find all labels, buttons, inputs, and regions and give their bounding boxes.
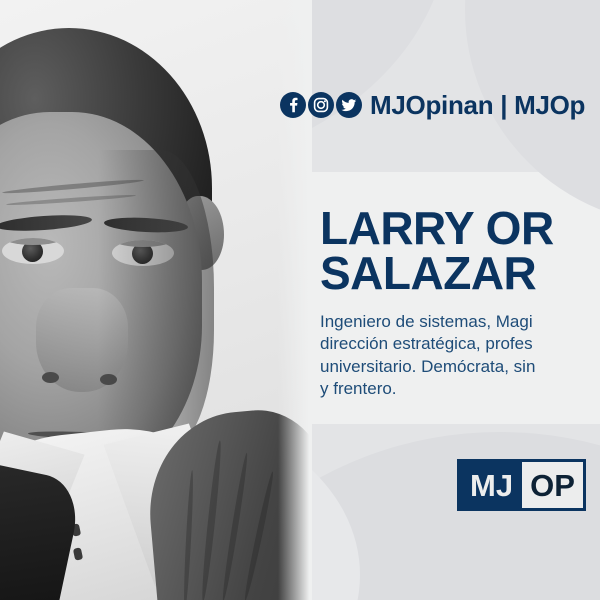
logo-initials: MJ — [460, 462, 522, 508]
portrait-nostril-left — [42, 372, 59, 383]
instagram-icon[interactable] — [308, 92, 334, 118]
social-handle-text: MJOpinan | MJOp — [370, 92, 585, 118]
portrait-eyelid-left — [2, 238, 64, 245]
facebook-icon[interactable] — [280, 92, 306, 118]
person-name-line-2: SALAZAR — [320, 251, 554, 296]
person-name: LARRY OR SALAZAR — [320, 206, 554, 296]
portrait-face-shadow — [98, 150, 214, 450]
bio-line: Ingeniero de sistemas, Magi — [320, 311, 535, 333]
social-handle-row: MJOpinan | MJOp — [280, 92, 585, 118]
twitter-icon[interactable] — [336, 92, 362, 118]
portrait-edge-fade — [278, 0, 312, 600]
promo-card: MJOpinan | MJOp LARRY OR SALAZAR Ingenie… — [0, 0, 600, 600]
portrait-eye-left — [2, 238, 64, 264]
bio-line: dirección estratégica, profes — [320, 333, 535, 355]
bio-line: y frentero. — [320, 378, 535, 400]
mj-opinan-logo[interactable]: MJ OP — [457, 459, 586, 511]
portrait-photo — [0, 0, 312, 600]
logo-wordmark: OP — [522, 462, 583, 508]
person-name-line-1: LARRY OR — [320, 206, 554, 251]
bio-line: universitario. Demócrata, sin — [320, 356, 535, 378]
person-bio: Ingeniero de sistemas, Magi dirección es… — [320, 311, 535, 401]
portrait-grayscale-layer — [0, 0, 312, 600]
